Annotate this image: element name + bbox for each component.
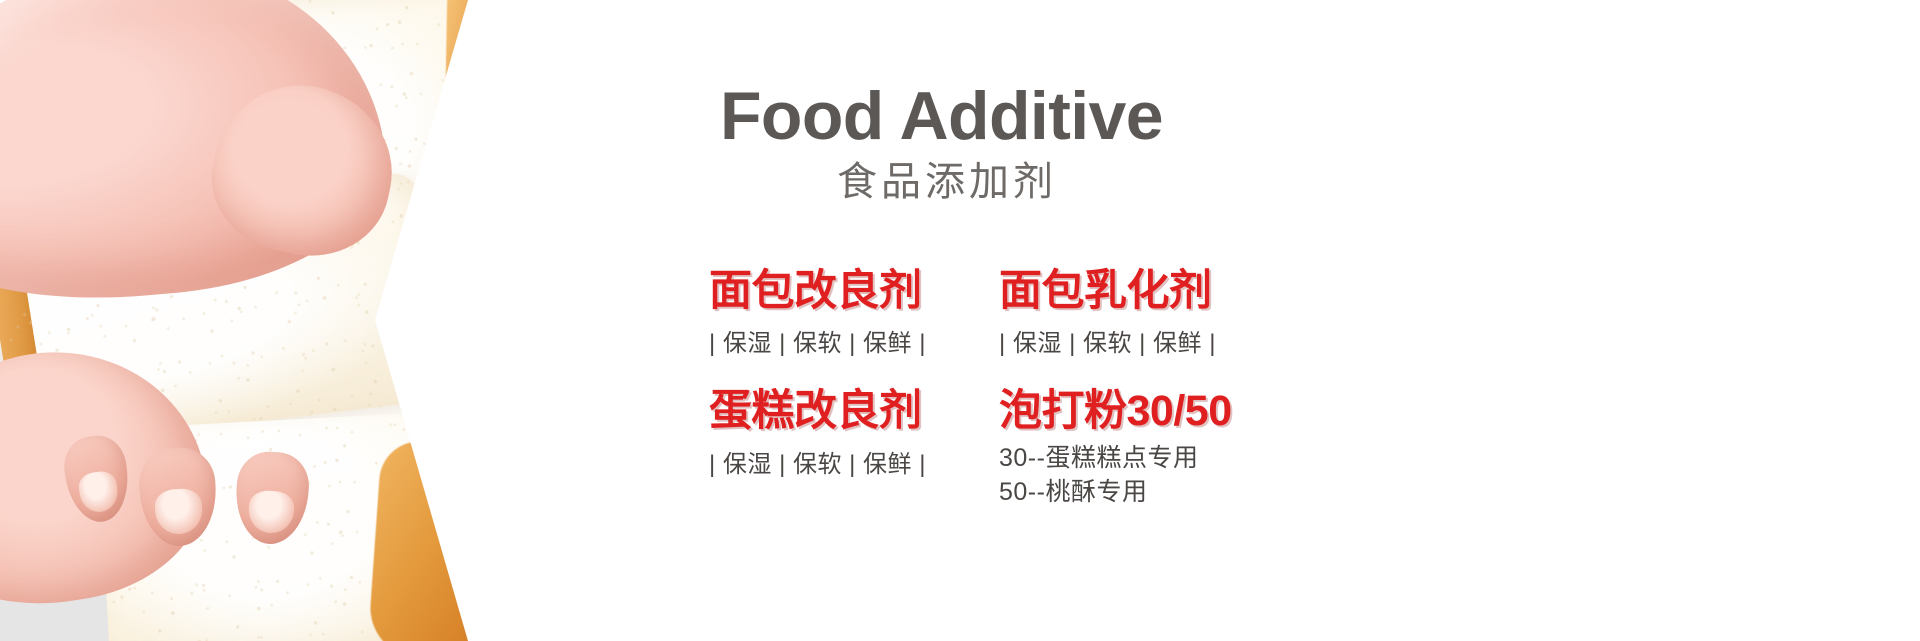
- product-note-line: 30--蛋糕糕点专用: [999, 442, 1299, 476]
- fingernail: [247, 489, 294, 534]
- fingernail: [154, 488, 203, 535]
- product-cell: 面包乳化剂 | 保湿 | 保软 | 保鲜 |: [999, 268, 1299, 358]
- product-name: 面包乳化剂: [999, 268, 1299, 314]
- product-tags: | 保湿 | 保软 | 保鲜 |: [709, 323, 999, 358]
- product-note-line: 50--桃酥专用: [999, 476, 1299, 510]
- product-name: 泡打粉30/50: [999, 388, 1299, 434]
- product-tags: | 保湿 | 保软 | 保鲜 |: [999, 323, 1299, 358]
- product-cell: 泡打粉30/50 30--蛋糕糕点专用 50--桃酥专用: [999, 388, 1299, 509]
- product-cell: 面包改良剂 | 保湿 | 保软 | 保鲜 |: [709, 268, 999, 358]
- page-title: Food Additive: [720, 82, 1163, 150]
- fingernail: [77, 470, 121, 515]
- page-subtitle: 食品添加剂: [837, 162, 1057, 202]
- product-notes: 30--蛋糕糕点专用 50--桃酥专用: [999, 442, 1299, 510]
- food-additive-banner: Food Additive 食品添加剂 面包改良剂 | 保湿 | 保软 | 保鲜…: [0, 0, 1920, 641]
- product-name: 蛋糕改良剂: [709, 388, 999, 434]
- product-grid: 面包改良剂 | 保湿 | 保软 | 保鲜 | 面包乳化剂 | 保湿 | 保软 |…: [709, 268, 1299, 509]
- banner-text-content: Food Additive 食品添加剂 面包改良剂 | 保湿 | 保软 | 保鲜…: [470, 0, 1370, 641]
- product-cell: 蛋糕改良剂 | 保湿 | 保软 | 保鲜 |: [709, 388, 999, 509]
- product-name: 面包改良剂: [709, 268, 999, 314]
- product-tags: | 保湿 | 保软 | 保鲜 |: [709, 444, 999, 479]
